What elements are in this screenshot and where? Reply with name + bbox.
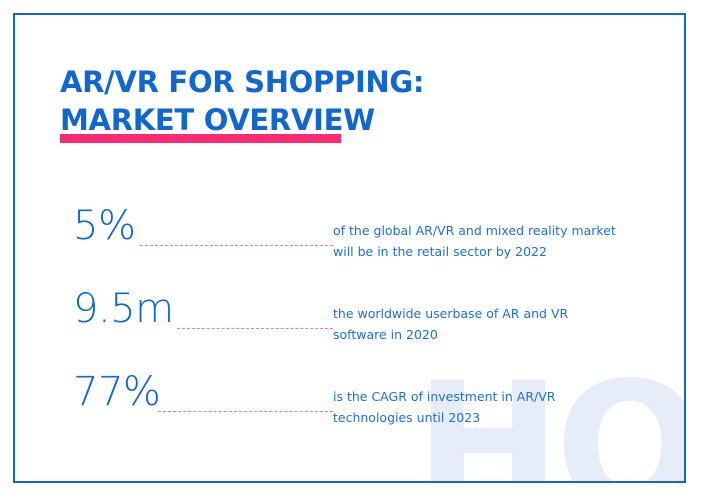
stat-description-line-2: software in 2020 (333, 324, 660, 345)
statistics-list: 5% of the global AR/VR and mixed reality… (60, 200, 660, 449)
stat-description-line-2: technologies until 2023 (333, 407, 660, 428)
leader-line (140, 245, 333, 246)
stat-description-line-1: is the CAGR of investment in AR/VR (333, 386, 660, 407)
title-line-1: AR/VR FOR SHOPPING: (60, 63, 424, 101)
stat-value-wrapper: 77% (60, 366, 333, 449)
slide-frame: HQ AR/VR FOR SHOPPING: MARKET OVERVIEW 5… (13, 13, 686, 483)
stat-description-line-2: will be in the retail sector by 2022 (333, 241, 660, 262)
title-line-2: MARKET OVERVIEW (60, 103, 375, 137)
title-line-2-wrapper: MARKET OVERVIEW (60, 101, 375, 141)
stat-item: 5% of the global AR/VR and mixed reality… (60, 200, 660, 283)
stat-description: is the CAGR of investment in AR/VR techn… (333, 366, 660, 428)
stat-item: 9.5m the worldwide userbase of AR and VR… (60, 283, 660, 366)
stat-item: 77% is the CAGR of investment in AR/VR t… (60, 366, 660, 449)
stat-description-line-1: of the global AR/VR and mixed reality ma… (333, 220, 660, 241)
stat-description: of the global AR/VR and mixed reality ma… (333, 200, 660, 262)
stat-value-wrapper: 5% (60, 200, 333, 283)
stat-value-wrapper: 9.5m (60, 283, 333, 366)
stat-value: 5% (73, 204, 135, 248)
leader-line (177, 328, 333, 329)
stat-description: the worldwide userbase of AR and VR soft… (333, 283, 660, 345)
page-title: AR/VR FOR SHOPPING: MARKET OVERVIEW (60, 63, 424, 141)
stat-value: 77% (73, 370, 160, 414)
stat-description-line-1: the worldwide userbase of AR and VR (333, 303, 660, 324)
leader-line (158, 411, 333, 412)
stat-value: 9.5m (73, 287, 174, 331)
